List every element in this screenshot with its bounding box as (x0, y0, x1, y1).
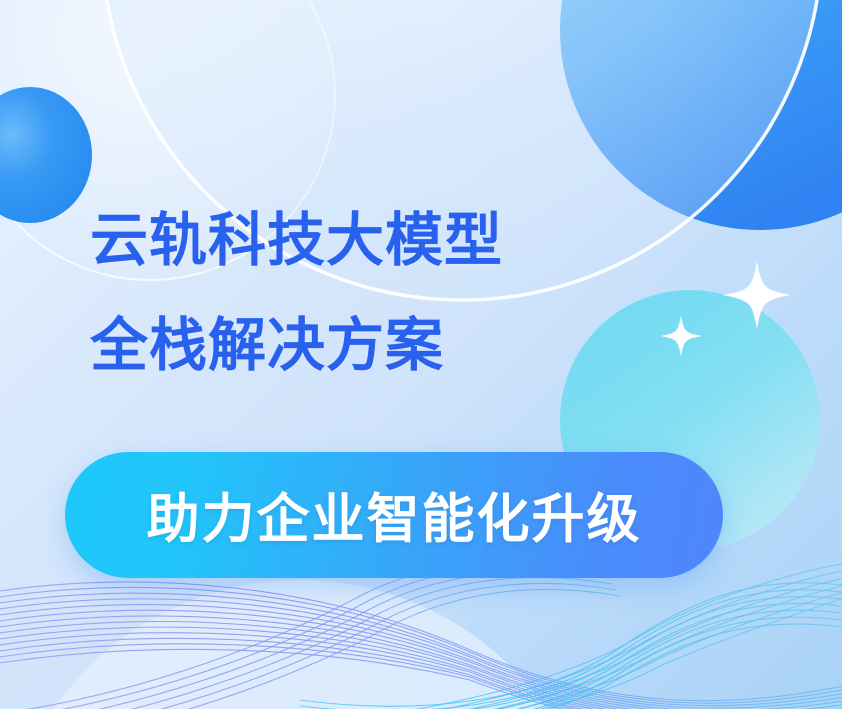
cta-pill-label: 助力企业智能化升级 (147, 477, 642, 553)
sparkle-small-icon (660, 315, 702, 357)
headline-line-2: 全栈解决方案 (90, 293, 503, 398)
wave-lines (0, 559, 842, 709)
headline-line-1: 云轨科技大模型 (90, 188, 503, 293)
headline: 云轨科技大模型 全栈解决方案 (90, 188, 503, 398)
bottom-light-circle (0, 580, 600, 709)
promo-banner: 云轨科技大模型 全栈解决方案 助力企业智能化升级 (0, 0, 842, 709)
top-left-blue-blob (0, 87, 92, 223)
sparkle-large-icon (723, 261, 791, 329)
top-right-blue-circle (560, 0, 842, 230)
cta-pill-button[interactable]: 助力企业智能化升级 (65, 452, 723, 578)
